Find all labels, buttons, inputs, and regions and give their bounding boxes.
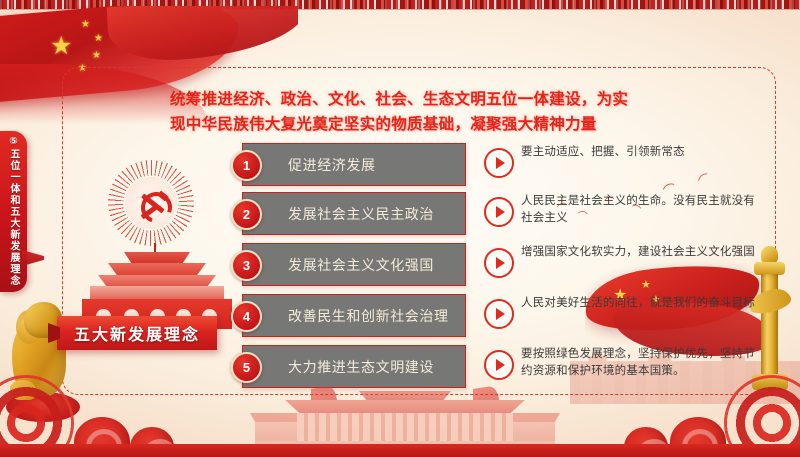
item-description: 要按照绿色发展理念，坚持保护优先，坚持节约资源和保护环境的基本国策。: [521, 346, 765, 379]
item-label-box[interactable]: 发展社会主义文化强国: [242, 243, 466, 286]
item-label: 改善民生和创新社会治理: [288, 306, 449, 326]
list-item[interactable]: 1 促进经济发展 要主动适应、把握、引领新常态: [231, 143, 779, 190]
list-item[interactable]: 2 发展社会主义民主政治 人民民主是社会主义的生命。没有民主就没有社会主义: [231, 192, 779, 241]
flag-star-small: ★: [94, 34, 103, 44]
item-label-box[interactable]: 促进经济发展: [242, 143, 466, 186]
list-item[interactable]: 3 发展社会主义文化强国 增强国家文化软实力，建设社会主义文化强国: [231, 243, 779, 292]
sidebar-tab-notch: [22, 250, 44, 266]
flag-star-small: ★: [92, 51, 101, 61]
item-label-box[interactable]: 改善民生和创新社会治理: [242, 294, 466, 337]
play-triangle-icon[interactable]: [484, 350, 514, 380]
item-number-badge: 4: [231, 301, 262, 332]
item-number-badge: 2: [231, 199, 262, 230]
banner-label: 五大新发展理念: [74, 321, 200, 345]
item-number-badge: 5: [231, 352, 262, 383]
item-label: 大力推进生态文明建设: [288, 357, 434, 377]
poster-canvas: ★ ★ ★ ★ ★ ⑤五位一体和五大新发展理念: [0, 0, 800, 457]
play-triangle-icon[interactable]: [484, 148, 514, 178]
item-description: 增强国家文化软实力，建设社会主义文化强国: [521, 244, 765, 261]
page-title: 统筹推进经济、政治、文化、社会、生态文明五位一体建设，为实现中华民族伟大复光奠定…: [170, 88, 640, 138]
item-description: 要主动适应、把握、引领新常态: [521, 144, 765, 161]
bottom-decoration: [0, 379, 800, 457]
play-triangle-icon[interactable]: [484, 299, 514, 329]
concepts-list: 1 促进经济发展 要主动适应、把握、引领新常态 2 发展社会主义民主政治 人民民…: [231, 143, 779, 396]
flag-star-large: ★: [50, 34, 72, 59]
play-triangle-icon[interactable]: [484, 197, 514, 227]
item-label: 促进经济发展: [288, 155, 376, 175]
item-number-badge: 1: [231, 150, 262, 181]
five-concepts-banner: 五大新发展理念: [57, 316, 217, 350]
item-label-box[interactable]: 发展社会主义民主政治: [242, 192, 466, 235]
play-triangle-icon[interactable]: [484, 248, 514, 278]
item-number-badge: 3: [231, 250, 262, 281]
item-description: 人民对美好生活的向往，就是我们的奋斗目标: [521, 295, 765, 312]
party-emblem-icon: [108, 160, 194, 246]
list-item[interactable]: 4 改善民生和创新社会治理 人民对美好生活的向往，就是我们的奋斗目标: [231, 294, 779, 343]
sidebar-tab-label: ⑤五位一体和五大新发展理念: [6, 136, 21, 287]
item-label: 发展社会主义文化强国: [288, 255, 434, 275]
item-description: 人民民主是社会主义的生命。没有民主就没有社会主义: [521, 193, 765, 226]
sidebar-section-tab[interactable]: ⑤五位一体和五大新发展理念: [0, 131, 27, 292]
item-label: 发展社会主义民主政治: [288, 204, 434, 224]
flag-star-small: ★: [81, 20, 90, 30]
bottom-red-bar: [0, 444, 800, 457]
